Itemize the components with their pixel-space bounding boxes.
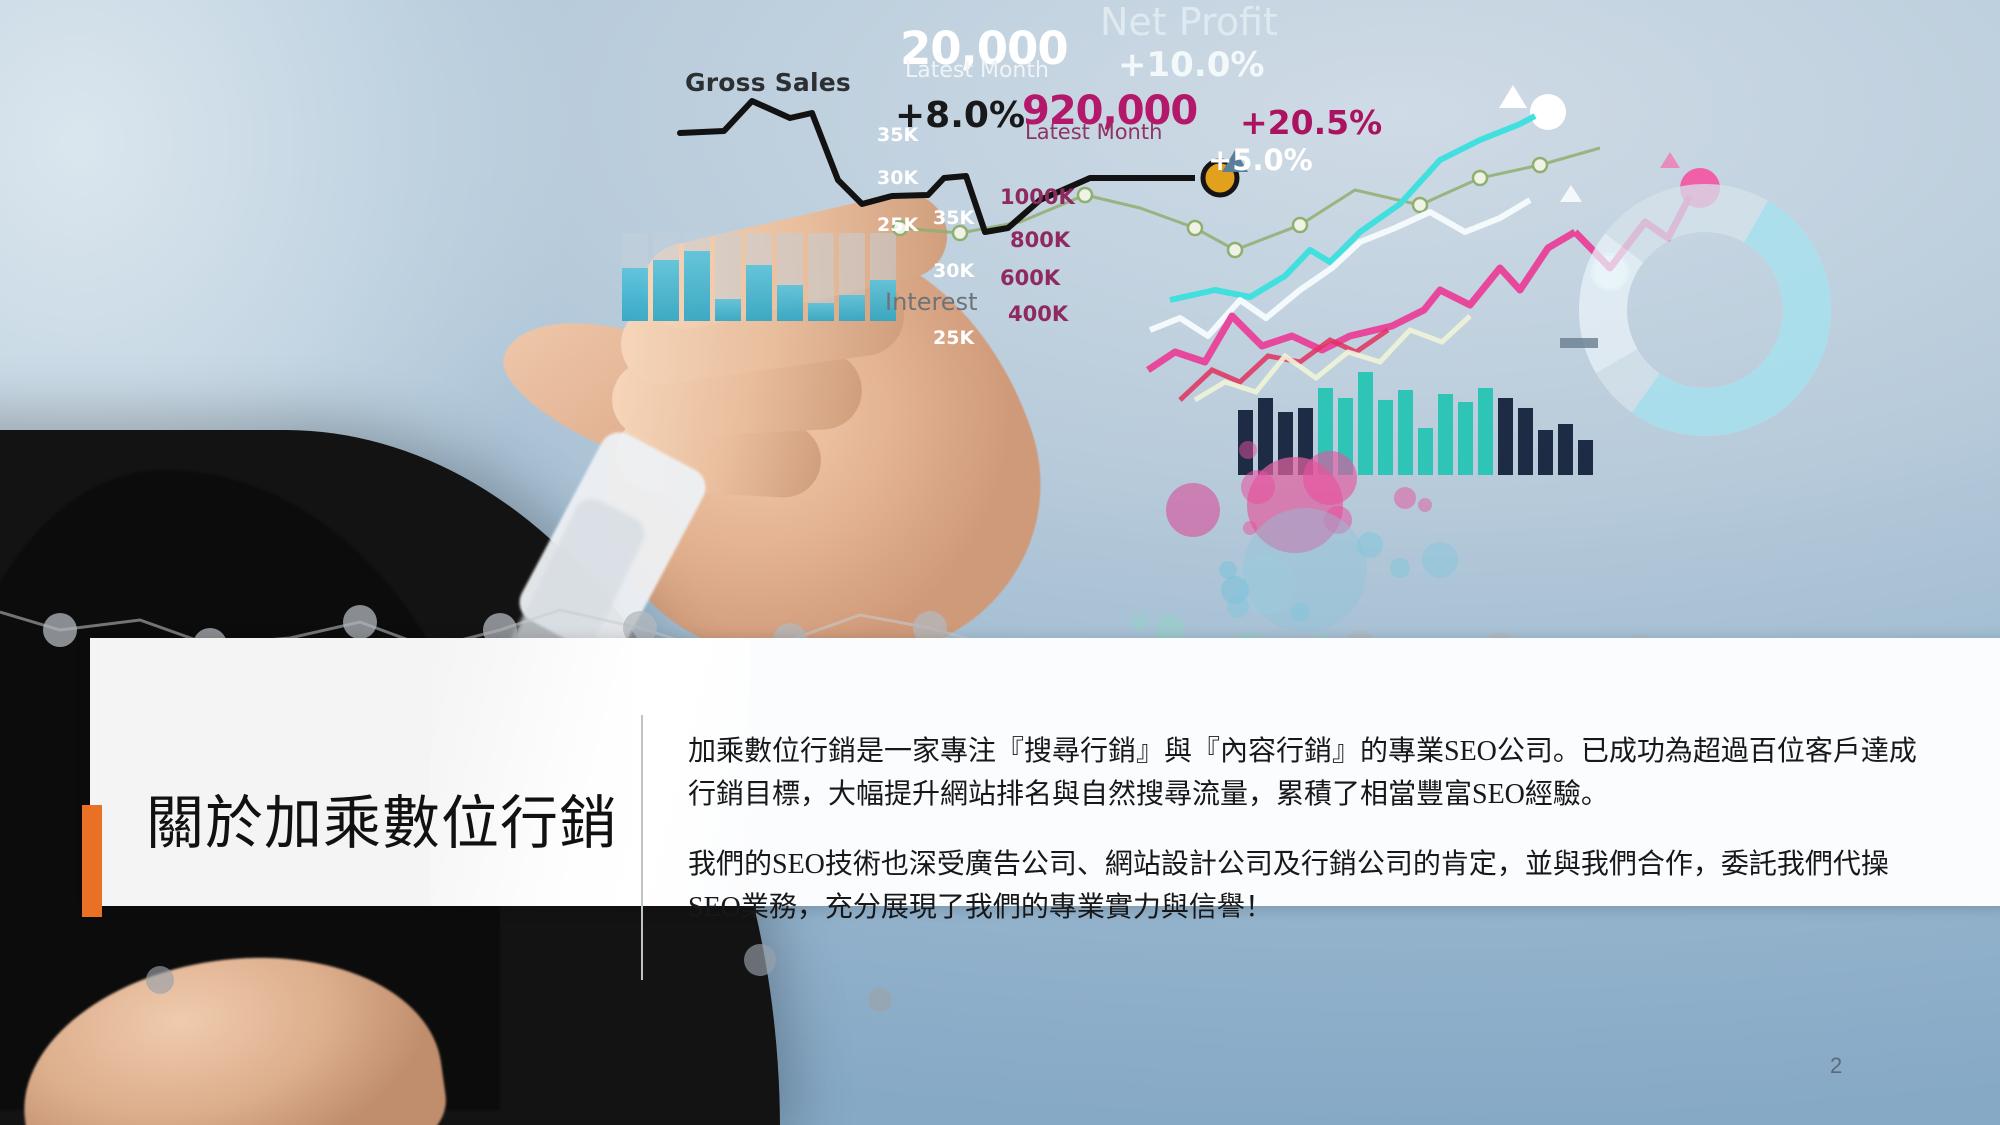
label-axis-30k-a: 30K [877, 167, 918, 189]
label-axis-800k: 800K [1010, 228, 1070, 252]
label-axis-35k-b: 35K [933, 207, 974, 229]
label-axis-25k-b: 25K [933, 327, 974, 349]
page-number: 2 [1830, 1053, 1842, 1079]
page-title: 關於加乘數位行銷 [146, 795, 618, 853]
label-axis-600k: 600K [1000, 266, 1060, 290]
vertical-divider [641, 715, 643, 980]
label-axis-30k-b: 30K [933, 260, 974, 282]
label-net-profit: Net Profit [1100, 0, 1278, 44]
label-latest-month-2: Latest Month [1025, 120, 1162, 144]
label-pct-205: +20.5% [1240, 103, 1382, 142]
slide: Gross Sales 20,000 Latest Month +8.0% 35… [0, 0, 2000, 1125]
body-text: 加乘數位行銷是一家專注『搜尋行銷』與『內容行銷』的專業SEO公司。已成功為超過百… [688, 730, 1938, 930]
label-pct-5: +5.0% [1208, 143, 1313, 177]
label-latest-month-1: Latest Month [905, 58, 1049, 83]
label-axis-1000k: 1000K [1000, 185, 1075, 209]
dashboard-labels: Gross Sales 20,000 Latest Month +8.0% 35… [0, 0, 2000, 1125]
body-paragraph-1: 加乘數位行銷是一家專注『搜尋行銷』與『內容行銷』的專業SEO公司。已成功為超過百… [688, 730, 1938, 817]
title-accent-bar [82, 805, 102, 917]
label-axis-35k-a: 35K [877, 124, 918, 146]
label-interest: Interest [885, 288, 977, 316]
label-gross-sales: Gross Sales [685, 68, 851, 97]
label-pct-10: +10.0% [1118, 45, 1264, 85]
label-axis-400k: 400K [1008, 302, 1068, 326]
label-axis-25k-a: 25K [877, 214, 918, 236]
body-paragraph-2: 我們的SEO技術也深受廣告公司、網站設計公司及行銷公司的肯定，並與我們合作，委託… [688, 843, 1938, 930]
